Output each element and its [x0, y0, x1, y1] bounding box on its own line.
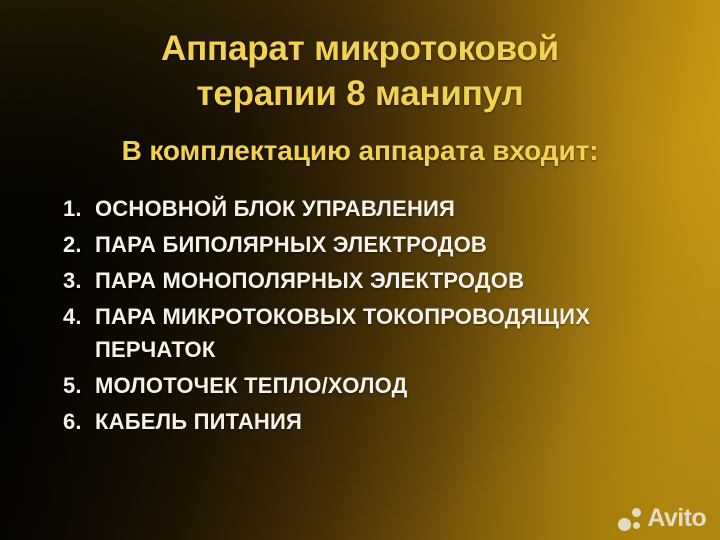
list-item-label: МОЛОТОЧЕК ТЕПЛО/ХОЛОД	[95, 369, 695, 402]
list-item-number: 4.	[63, 300, 95, 333]
package-contents-list: 1. ОСНОВНОЙ БЛОК УПРАВЛЕНИЯ 2. ПАРА БИПО…	[63, 192, 704, 441]
title-line-1: Аппарат микротоковой	[161, 29, 559, 68]
list-item-number: 5.	[63, 369, 95, 402]
list-item-label: ПАРА МИКРОТОКОВЫХ ТОКОПРОВОДЯЩИХ ПЕРЧАТО…	[95, 300, 695, 366]
list-item-number: 2.	[63, 228, 95, 261]
avito-dots-icon	[618, 507, 642, 531]
avito-wordmark: Avito	[647, 506, 706, 531]
list-item-number: 6.	[63, 405, 95, 438]
list-item-label: КАБЕЛЬ ПИТАНИЯ	[95, 405, 695, 438]
list-item: 4. ПАРА МИКРОТОКОВЫХ ТОКОПРОВОДЯЩИХ ПЕРЧ…	[63, 300, 704, 366]
subtitle: В комплектацию аппарата входит:	[0, 134, 720, 168]
promo-banner: Аппарат микротоковой терапии 8 манипул В…	[0, 0, 720, 540]
list-item: 5. МОЛОТОЧЕК ТЕПЛО/ХОЛОД	[63, 369, 704, 402]
list-item-label: ОСНОВНОЙ БЛОК УПРАВЛЕНИЯ	[95, 192, 695, 225]
page-title: Аппарат микротоковой терапии 8 манипул	[0, 26, 720, 116]
list-item-label: ПАРА БИПОЛЯРНЫХ ЭЛЕКТРОДОВ	[95, 228, 695, 261]
avito-watermark: Avito	[618, 506, 706, 531]
list-item-number: 1.	[63, 192, 95, 225]
banner-content: Аппарат микротоковой терапии 8 манипул В…	[0, 0, 720, 540]
list-item: 1. ОСНОВНОЙ БЛОК УПРАВЛЕНИЯ	[63, 192, 704, 225]
list-item-number: 3.	[63, 264, 95, 297]
list-item: 6. КАБЕЛЬ ПИТАНИЯ	[63, 405, 704, 438]
list-item: 3. ПАРА МОНОПОЛЯРНЫХ ЭЛЕКТРОДОВ	[63, 264, 704, 297]
title-line-2: терапии 8 манипул	[50, 71, 670, 116]
list-item: 2. ПАРА БИПОЛЯРНЫХ ЭЛЕКТРОДОВ	[63, 228, 704, 261]
list-item-label: ПАРА МОНОПОЛЯРНЫХ ЭЛЕКТРОДОВ	[95, 264, 695, 297]
